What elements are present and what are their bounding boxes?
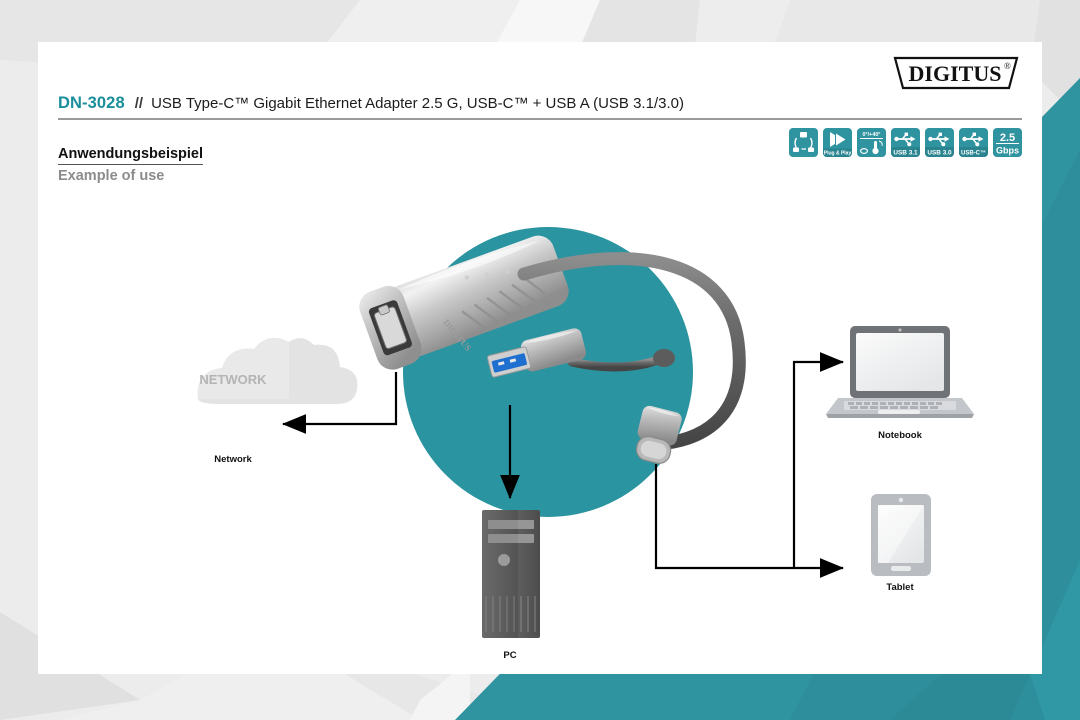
usb-31-label: USB 3.1 [893, 149, 918, 156]
cable-splitter [653, 349, 675, 367]
section-heading-en: Example of use [58, 168, 164, 184]
feature-badge-row: Plug & Play 0°/+40° [789, 128, 1022, 157]
notebook-device [826, 326, 974, 418]
product-title-row: DN-3028 // USB Type-C™ Gigabit Ethernet … [58, 94, 1022, 113]
title-divider [58, 118, 1022, 120]
link-usbc-trunk [656, 464, 794, 568]
speed-value: 2.5 [1000, 132, 1015, 144]
title-separator: // [135, 95, 143, 112]
tablet-device [871, 494, 931, 576]
label-tablet: Tablet [886, 582, 913, 593]
digitus-logo: DIGITUS ® [892, 55, 1020, 91]
usb-c-label: USB-C™ [961, 149, 986, 156]
label-pc: PC [503, 650, 516, 661]
section-heading-de: Anwendungsbeispiel [58, 146, 203, 165]
link-usbc-to-notebook [794, 362, 843, 568]
content-card: DIGITUS ® DN-3028 // USB Type-C™ Gigabit… [38, 42, 1042, 674]
network-cloud: NETWORK [198, 338, 358, 404]
logo-text: DIGITUS [909, 61, 1002, 86]
cloud-label: NETWORK [199, 372, 267, 387]
speed-unit: Gbps [996, 146, 1019, 156]
plug-and-play-label: Plug & Play [824, 151, 852, 157]
product-sku: DN-3028 [58, 94, 125, 113]
usage-diagram: NETWORK [38, 192, 1042, 674]
label-network: Network [214, 454, 251, 465]
plug-and-play-icon: Plug & Play [823, 128, 852, 157]
usb-c-icon: USB-C™ [959, 128, 988, 157]
logo-registered-mark: ® [1004, 61, 1011, 71]
product-title: USB Type-C™ Gigabit Ethernet Adapter 2.5… [151, 95, 684, 112]
temperature-label: 0°/+40° [863, 132, 881, 138]
network-connection-icon [789, 128, 818, 157]
usb-30-label: USB 3.0 [927, 149, 952, 156]
speed-icon: 2.5 Gbps [993, 128, 1022, 157]
label-notebook: Notebook [878, 430, 922, 441]
pc-tower [482, 510, 540, 638]
usb-30-icon: USB 3.0 [925, 128, 954, 157]
temperature-range-icon: 0°/+40° [857, 128, 886, 157]
usb-31-icon: USB 3.1 [891, 128, 920, 157]
